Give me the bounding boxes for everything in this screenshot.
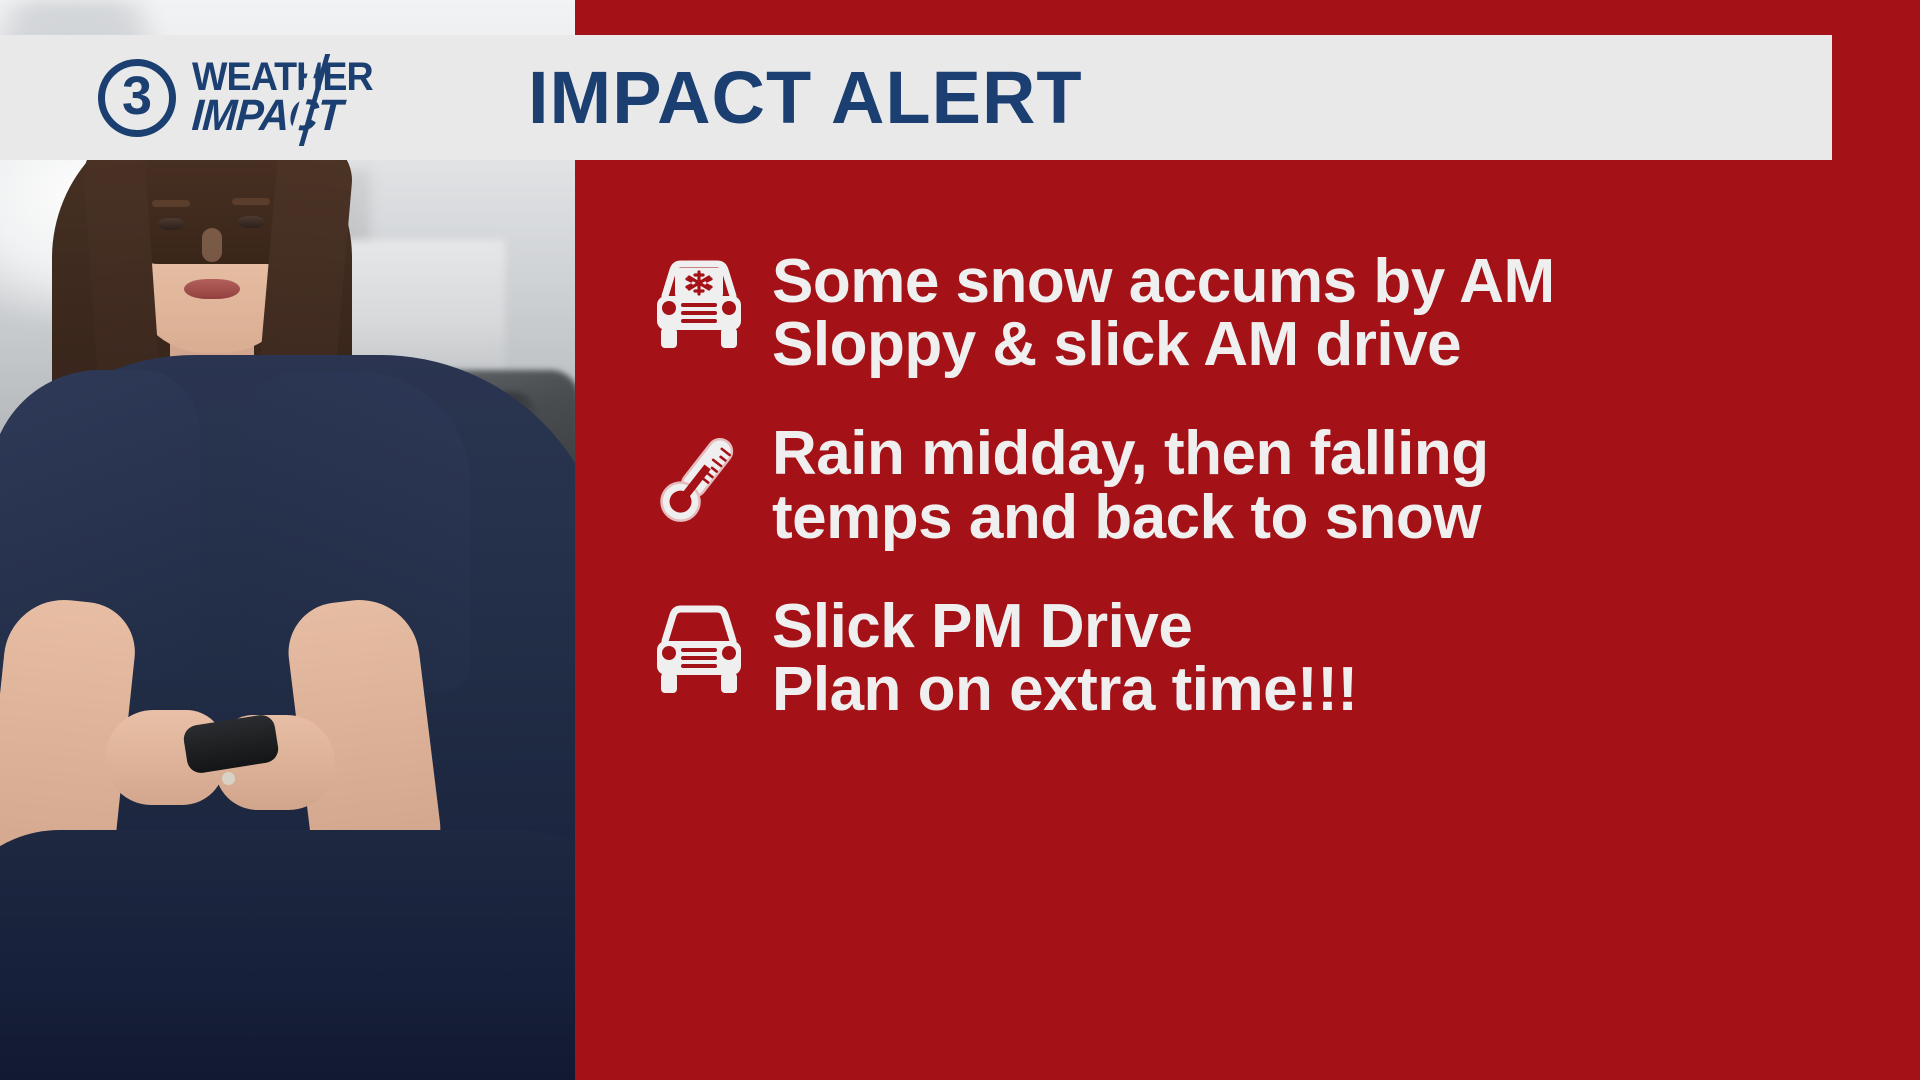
list-item: Some snow accums by AM Sloppy & slick AM… [640, 250, 1840, 376]
list-item: Rain midday, then falling temps and back… [640, 422, 1840, 548]
car-snowflake-icon [640, 250, 758, 360]
alert-line-2: temps and back to snow [772, 486, 1489, 549]
logo-wordmark: WEATHER IMPACT [192, 60, 384, 136]
alert-line-2: Sloppy & slick AM drive [772, 313, 1555, 376]
presenter-eyebrow [232, 198, 270, 205]
presenter-skirt [0, 830, 575, 1080]
header-banner: 3 WEATHER IMPACT IMPACT ALERT [0, 35, 1832, 160]
alert-text: Rain midday, then falling temps and back… [772, 422, 1489, 548]
logo-weather-text: WEATHER [192, 60, 373, 95]
channel-number-badge: 3 [98, 59, 176, 137]
presenter-eye [158, 218, 184, 230]
alert-line-1: Some snow accums by AM [772, 247, 1555, 316]
presenter-lips [184, 279, 240, 299]
presenter-eye [238, 216, 264, 228]
presenter-nose [202, 228, 222, 262]
alert-text: Slick PM Drive Plan on extra time!!! [772, 595, 1358, 721]
presenter-ring [222, 772, 235, 785]
logo-impact-text: IMPACT [191, 97, 374, 136]
thermometer-icon [640, 422, 758, 532]
channel-number: 3 [122, 69, 152, 123]
alert-line-1: Rain midday, then falling [772, 419, 1489, 488]
car-front-icon [640, 595, 758, 705]
alert-text: Some snow accums by AM Sloppy & slick AM… [772, 250, 1555, 376]
alert-line-1: Slick PM Drive [772, 592, 1192, 661]
list-item: Slick PM Drive Plan on extra time!!! [640, 595, 1840, 721]
presenter-eyebrow [152, 200, 190, 207]
station-logo: 3 WEATHER IMPACT [98, 59, 498, 137]
alert-line-2: Plan on extra time!!! [772, 658, 1358, 721]
video-feed-panel [0, 0, 575, 1080]
impact-alert-list: Some snow accums by AM Sloppy & slick AM… [640, 250, 1840, 767]
page-title: IMPACT ALERT [528, 55, 1083, 140]
meteorologist-presenter [0, 0, 575, 1080]
